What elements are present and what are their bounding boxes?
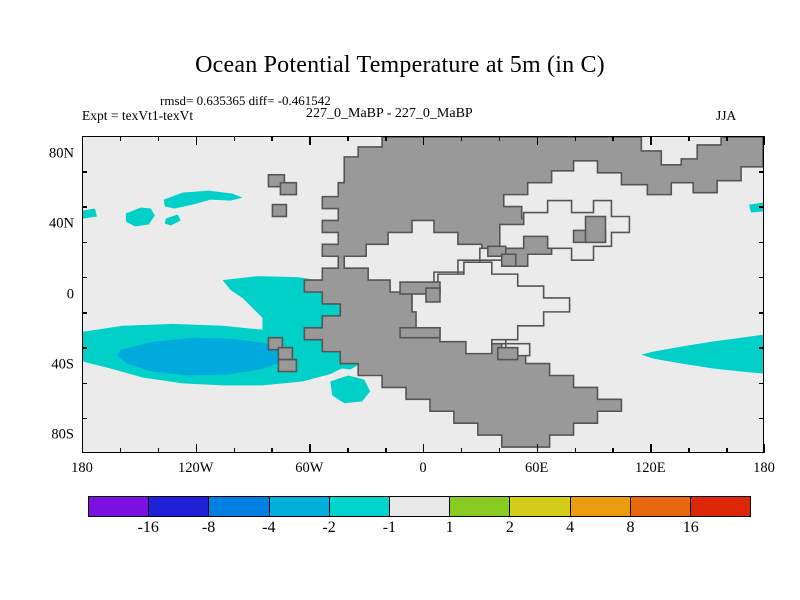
colorbar-tick-label: -2: [322, 519, 335, 537]
axis-tick: [196, 136, 197, 145]
axis-tick: [82, 242, 87, 243]
axis-tick: [120, 448, 121, 453]
y-axis-tick-label: 40S: [24, 356, 74, 373]
axis-tick: [347, 136, 348, 141]
colorbar-tick-label: 1: [446, 519, 454, 537]
colorbar-segment: [571, 497, 631, 516]
axis-tick: [271, 136, 272, 141]
axis-tick: [82, 347, 87, 348]
x-axis-tick-label: 120W: [178, 460, 213, 477]
axis-tick: [726, 448, 727, 453]
axis-tick: [158, 136, 159, 141]
axis-tick: [759, 347, 764, 348]
season-annotation: JJA: [716, 108, 736, 124]
page-title: Ocean Potential Temperature at 5m (in C): [0, 52, 800, 79]
axis-tick: [158, 448, 159, 453]
colorbar-segment: [209, 497, 269, 516]
y-axis-tick-label: 80S: [24, 427, 74, 444]
axis-tick: [759, 418, 764, 419]
axis-tick: [759, 171, 764, 172]
colorbar-tick-label: -8: [202, 519, 215, 537]
axis-tick: [575, 448, 576, 453]
colorbar-segment: [89, 497, 149, 516]
axis-tick: [82, 277, 87, 278]
axis-tick: [234, 448, 235, 453]
colorbar-tick-label: -1: [383, 519, 396, 537]
colorbar-tick-label: -16: [138, 519, 159, 537]
axis-tick: [759, 206, 764, 207]
map-plot-area: [82, 136, 764, 453]
experiment-annotation: Expt = texVt1-texVt: [82, 108, 193, 124]
figure-canvas: Ocean Potential Temperature at 5m (in C)…: [0, 0, 800, 600]
x-axis-tick-label: 60E: [525, 460, 548, 477]
axis-tick: [347, 448, 348, 453]
axis-tick: [759, 277, 764, 278]
axis-tick: [82, 383, 87, 384]
axis-tick: [423, 444, 424, 453]
colorbar-segment: [390, 497, 450, 516]
axis-tick: [499, 448, 500, 453]
colorbar: [88, 496, 751, 517]
axis-tick: [82, 312, 87, 313]
x-axis-tick-label: 180: [753, 460, 775, 477]
map-graphic: [83, 137, 763, 452]
axis-tick: [271, 448, 272, 453]
axis-tick: [537, 444, 538, 453]
axis-tick: [461, 448, 462, 453]
x-axis-tick-label: 120E: [635, 460, 666, 477]
colorbar-tick-label: 16: [683, 519, 699, 537]
x-axis-tick-label: 0: [419, 460, 426, 477]
axis-tick: [688, 448, 689, 453]
axis-tick: [461, 136, 462, 141]
axis-tick: [309, 444, 310, 453]
axis-tick: [759, 242, 764, 243]
y-axis-tick-label: 80N: [24, 145, 74, 162]
axis-tick: [575, 136, 576, 141]
axis-tick: [688, 136, 689, 141]
axis-tick: [309, 136, 310, 145]
axis-tick: [726, 136, 727, 141]
y-axis-tick-label: 0: [24, 286, 74, 303]
colorbar-tick-label: 2: [506, 519, 514, 537]
axis-tick: [612, 448, 613, 453]
axis-tick: [423, 136, 424, 145]
axis-tick: [120, 136, 121, 141]
colorbar-segment: [450, 497, 510, 516]
colorbar-segment: [149, 497, 209, 516]
colorbar-tick-label: -4: [262, 519, 275, 537]
axis-tick: [650, 444, 651, 453]
colorbar-tick-label: 4: [566, 519, 574, 537]
axis-tick: [650, 136, 651, 145]
axis-tick: [385, 136, 386, 141]
x-axis-tick-label: 180: [71, 460, 93, 477]
colorbar-tick-label: 8: [626, 519, 634, 537]
axis-tick: [764, 136, 765, 145]
axis-tick: [764, 444, 765, 453]
axis-tick: [537, 136, 538, 145]
colorbar-tick-labels: -16-8-4-2-1124816: [88, 519, 751, 543]
colorbar-segment: [510, 497, 570, 516]
y-axis-tick-label: 40N: [24, 216, 74, 233]
axis-tick: [759, 312, 764, 313]
colorbar-segment: [330, 497, 390, 516]
axis-tick: [82, 136, 83, 145]
x-axis-tick-label: 60W: [295, 460, 323, 477]
axis-tick: [612, 136, 613, 141]
axis-tick: [82, 171, 87, 172]
colorbar-segment: [631, 497, 691, 516]
axis-tick: [385, 448, 386, 453]
colorbar-segment: [270, 497, 330, 516]
axis-tick: [82, 418, 87, 419]
case-comparison-annotation: 227_0_MaBP - 227_0_MaBP: [306, 106, 473, 122]
axis-tick: [234, 136, 235, 141]
axis-tick: [82, 444, 83, 453]
axis-tick: [759, 383, 764, 384]
axis-tick: [82, 206, 87, 207]
axis-tick: [196, 444, 197, 453]
axis-tick: [499, 136, 500, 141]
colorbar-segment: [691, 497, 750, 516]
